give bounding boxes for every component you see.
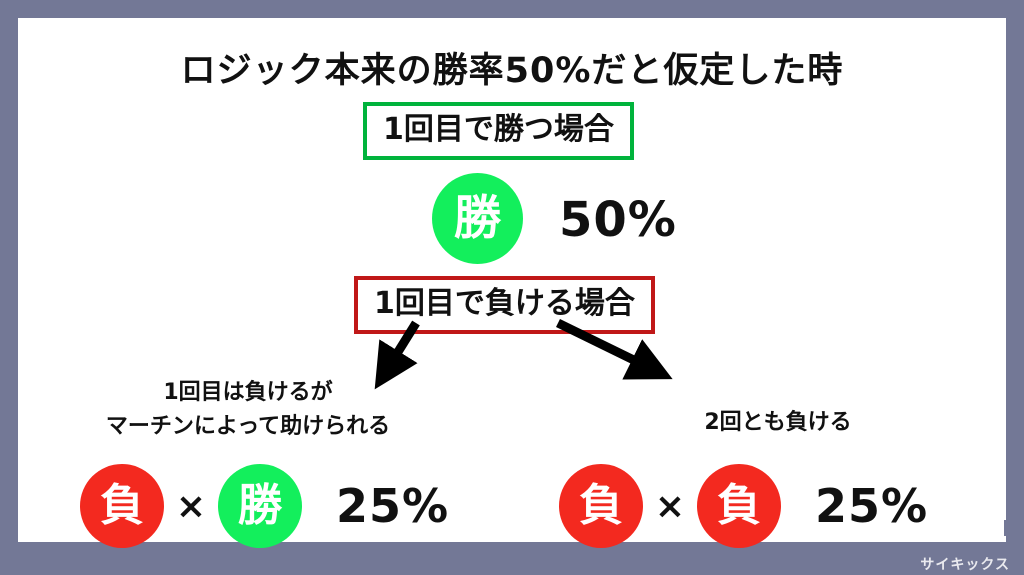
page-title: ロジック本来の勝率50%だと仮定した時 — [18, 42, 1006, 93]
frame-notch — [1004, 520, 1014, 536]
outcome-right-percent: 25% — [815, 479, 928, 533]
watermark: サイキックス — [920, 554, 1010, 574]
outcome-right-token-first-glyph: 負 — [579, 484, 623, 528]
outcome-right-token-second-glyph: 負 — [717, 484, 761, 528]
outcome-caption-left: 1回目は負けるが マーチンによって助けられる — [48, 376, 448, 444]
slide-frame: ロジック本来の勝率50%だと仮定した時 1回目で勝つ場合 勝 50% 1回目で負… — [0, 0, 1024, 575]
outcome-left-token-second: 勝 — [218, 464, 302, 548]
outcome-right-operator: × — [643, 486, 697, 527]
outcome-left-operator: × — [164, 486, 218, 527]
token-win-glyph: 勝 — [454, 195, 501, 242]
outcome-right-token-first: 負 — [559, 464, 643, 548]
outcome-row-right: 負 × 負 25% — [559, 461, 928, 551]
outcome-caption-left-line2: マーチンによって助けられる — [48, 410, 448, 444]
outcome-caption-right-line1: 2回とも負ける — [598, 406, 958, 440]
outcome-row-left: 負 × 勝 25% — [80, 461, 449, 551]
outcome-left-token-first: 負 — [80, 464, 164, 548]
slide-canvas: ロジック本来の勝率50%だと仮定した時 1回目で勝つ場合 勝 50% 1回目で負… — [18, 18, 1006, 542]
branch-label-lose: 1回目で負ける場合 — [354, 276, 655, 334]
outcome-left-token-first-glyph: 負 — [100, 484, 144, 528]
outcome-left-percent: 25% — [336, 479, 449, 533]
outcome-caption-left-line1: 1回目は負けるが — [48, 376, 448, 410]
outcome-left-token-second-glyph: 勝 — [238, 484, 282, 528]
outcome-caption-right: 2回とも負ける — [598, 406, 958, 440]
branch-label-win: 1回目で勝つ場合 — [363, 102, 634, 160]
token-win-first-round: 勝 — [432, 173, 523, 264]
percent-win-first-round: 50% — [559, 192, 677, 248]
outcome-right-token-second: 負 — [697, 464, 781, 548]
